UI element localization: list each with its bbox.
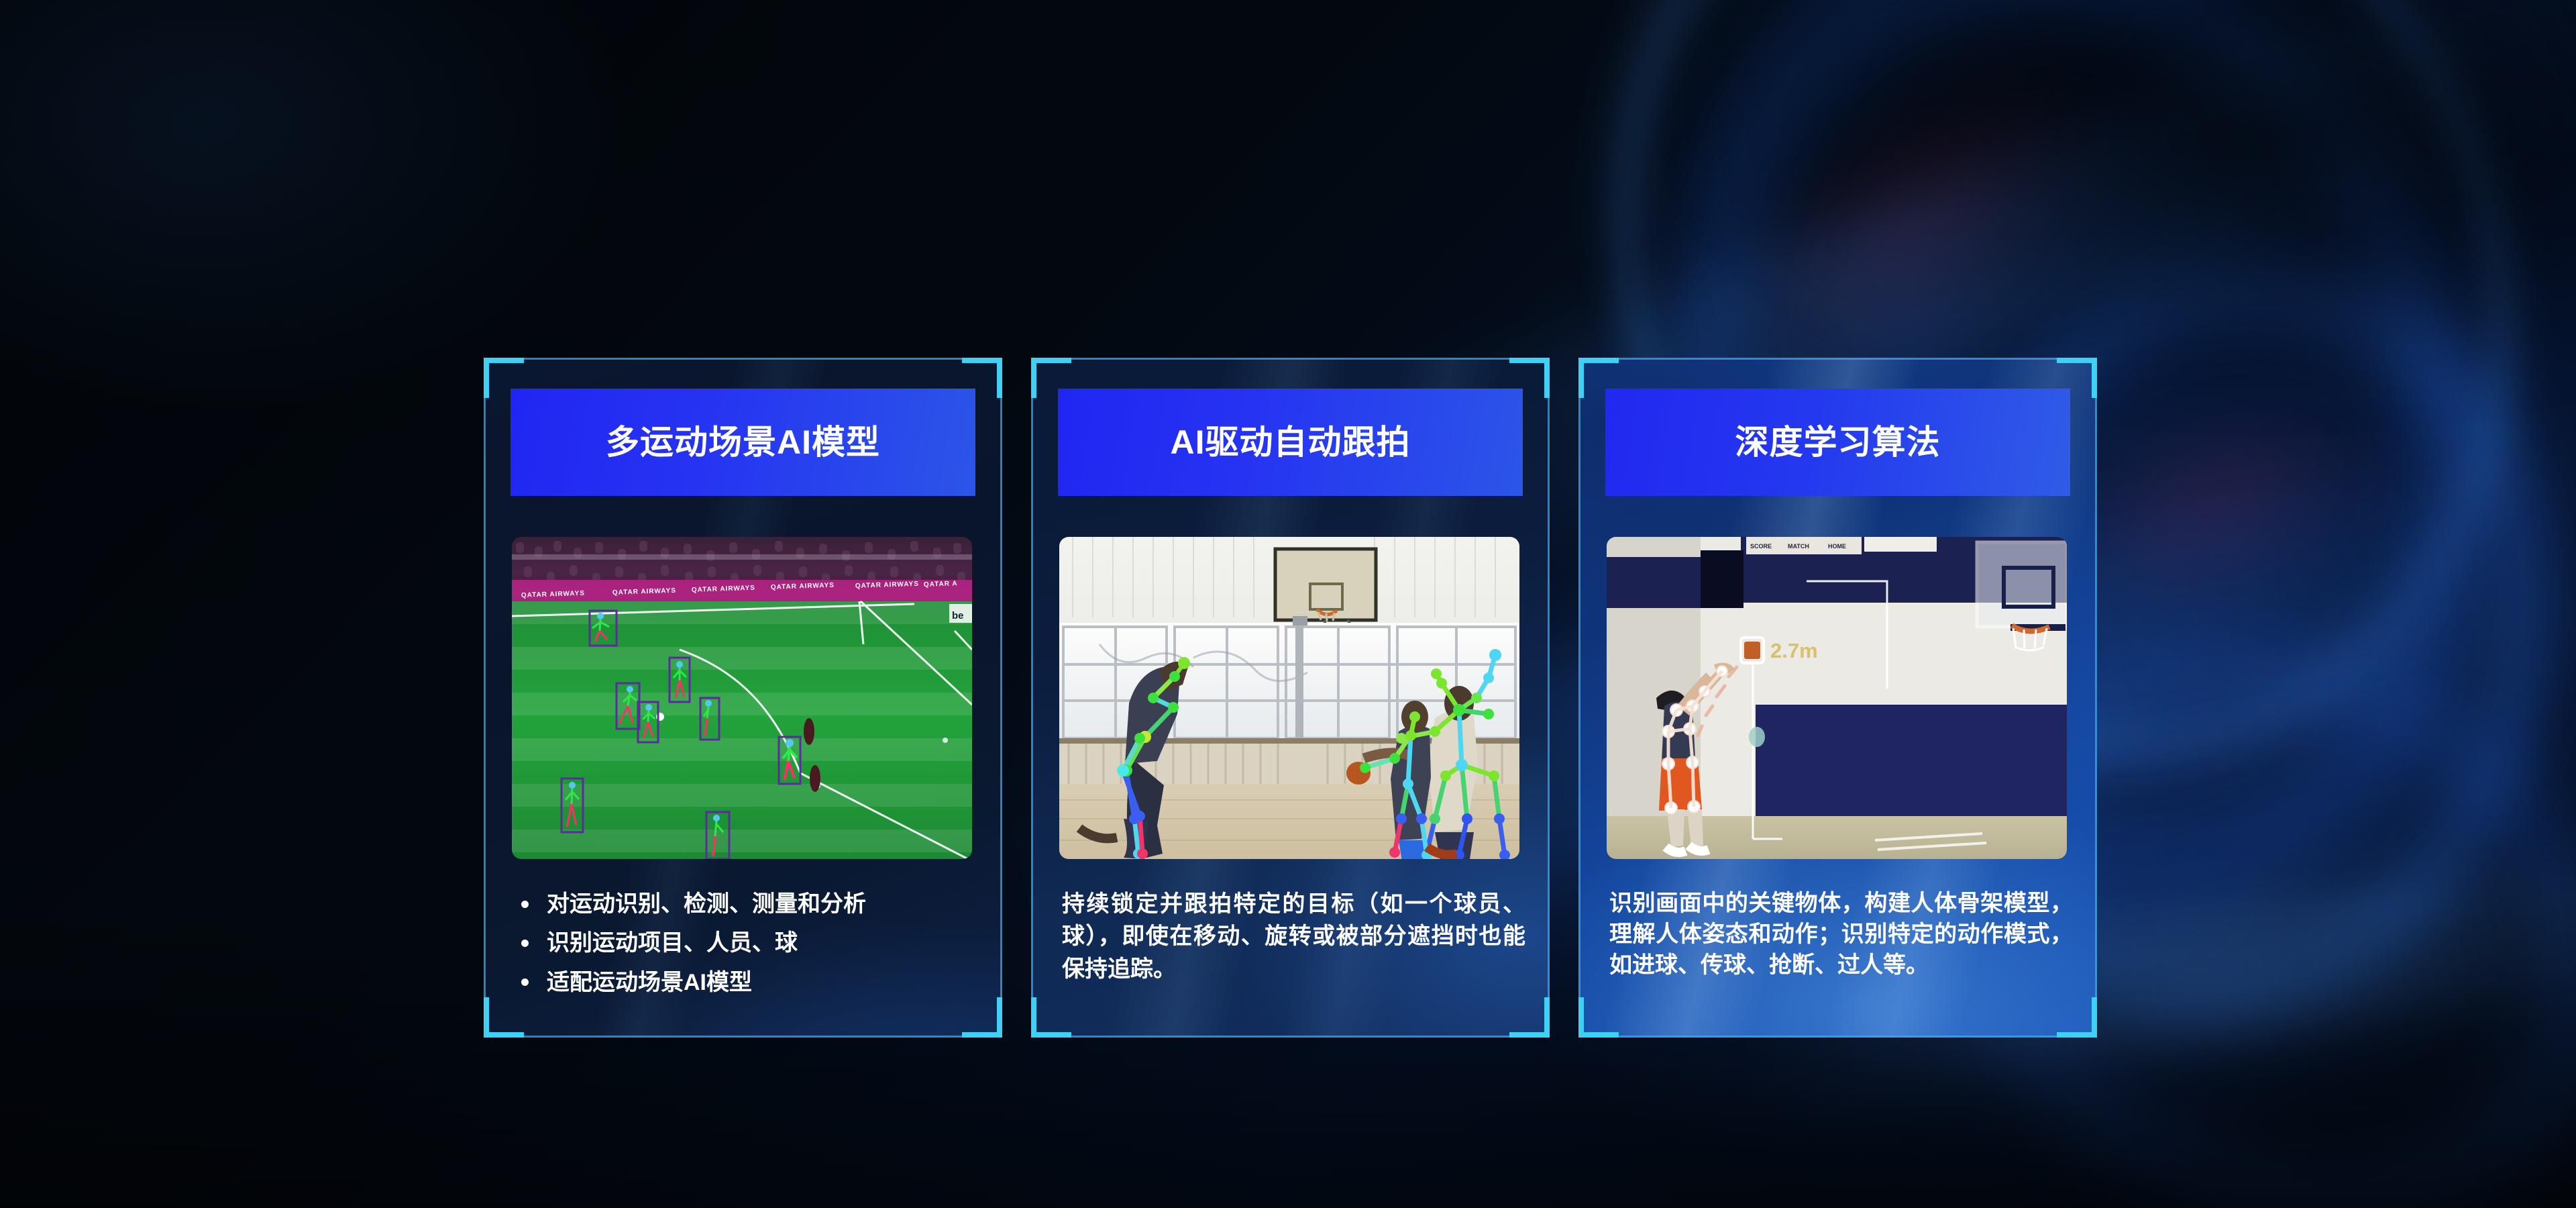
card-panel: 深度学习算法	[1578, 358, 2097, 1038]
bullet-dot-icon	[521, 940, 529, 947]
feature-card-list: 多运动场景AI模型	[0, 0, 2576, 1208]
basketball-gym-illustration	[1059, 537, 1519, 859]
bullet-text: 对运动识别、检测、测量和分析	[547, 891, 866, 917]
bullet-text: 识别运动项目、人员、球	[547, 930, 798, 956]
measurement-label: 2.7m	[1770, 639, 1818, 662]
basketball-shot-illustration: SCOREMATCHHOME	[1607, 537, 2067, 859]
feature-card-multi-sport-ai-model[interactable]: 多运动场景AI模型	[484, 358, 1002, 1038]
feature-bullet-list: 对运动识别、检测、测量和分析 识别运动项目、人员、球 适配运动场景AI模型	[515, 888, 978, 999]
card-body: 对运动识别、检测、测量和分析 识别运动项目、人员、球 适配运动场景AI模型	[515, 888, 978, 1005]
basketball-gym-skeleton-thumbnail[interactable]	[1059, 537, 1519, 859]
card-panel: AI驱动自动跟拍	[1031, 358, 1550, 1038]
svg-text:MATCH: MATCH	[1788, 543, 1809, 550]
card-paragraph: 持续锁定并跟拍特定的目标（如一个球员、球），即使在移动、旋转或被部分遮挡时也能保…	[1062, 888, 1525, 985]
svg-text:HOME: HOME	[1828, 543, 1846, 550]
bullet-text: 适配运动场景AI模型	[547, 970, 752, 995]
card-body: 持续锁定并跟拍特定的目标（如一个球员、球），即使在移动、旋转或被部分遮挡时也能保…	[1062, 888, 1525, 985]
soccer-pose-detection-thumbnail[interactable]: QATAR AIRWAYS QATAR AIRWAYS QATAR AIRWAY…	[512, 537, 972, 859]
card-title: 多运动场景AI模型	[606, 425, 880, 459]
svg-text:be: be	[952, 610, 964, 621]
card-body: 识别画面中的关键物体，构建人体骨架模型，理解人体姿态和动作；识别特定的动作模式，…	[1609, 888, 2073, 981]
card-header-banner: 多运动场景AI模型	[511, 389, 975, 496]
card-paragraph: 识别画面中的关键物体，构建人体骨架模型，理解人体姿态和动作；识别特定的动作模式，…	[1609, 888, 2073, 981]
card-header-banner: 深度学习算法	[1605, 389, 2070, 496]
list-item: 适配运动场景AI模型	[515, 966, 978, 999]
basketball-shot-measurement-thumbnail[interactable]: SCOREMATCHHOME	[1607, 537, 2067, 859]
card-title: AI驱动自动跟拍	[1171, 425, 1411, 459]
feature-card-deep-learning-algorithm[interactable]: 深度学习算法	[1578, 358, 2097, 1038]
svg-text:SCORE: SCORE	[1750, 543, 1772, 550]
bullet-dot-icon	[521, 901, 529, 908]
svg-text:QATAR A: QATAR A	[924, 580, 958, 589]
feature-card-ai-auto-tracking[interactable]: AI驱动自动跟拍	[1031, 358, 1550, 1038]
list-item: 识别运动项目、人员、球	[515, 927, 978, 959]
list-item: 对运动识别、检测、测量和分析	[515, 888, 978, 920]
card-title: 深度学习算法	[1735, 425, 1941, 459]
card-header-banner: AI驱动自动跟拍	[1058, 389, 1523, 496]
card-panel: 多运动场景AI模型	[484, 358, 1002, 1038]
bullet-dot-icon	[521, 978, 529, 986]
soccer-scene-illustration: QATAR AIRWAYS QATAR AIRWAYS QATAR AIRWAY…	[512, 537, 972, 859]
